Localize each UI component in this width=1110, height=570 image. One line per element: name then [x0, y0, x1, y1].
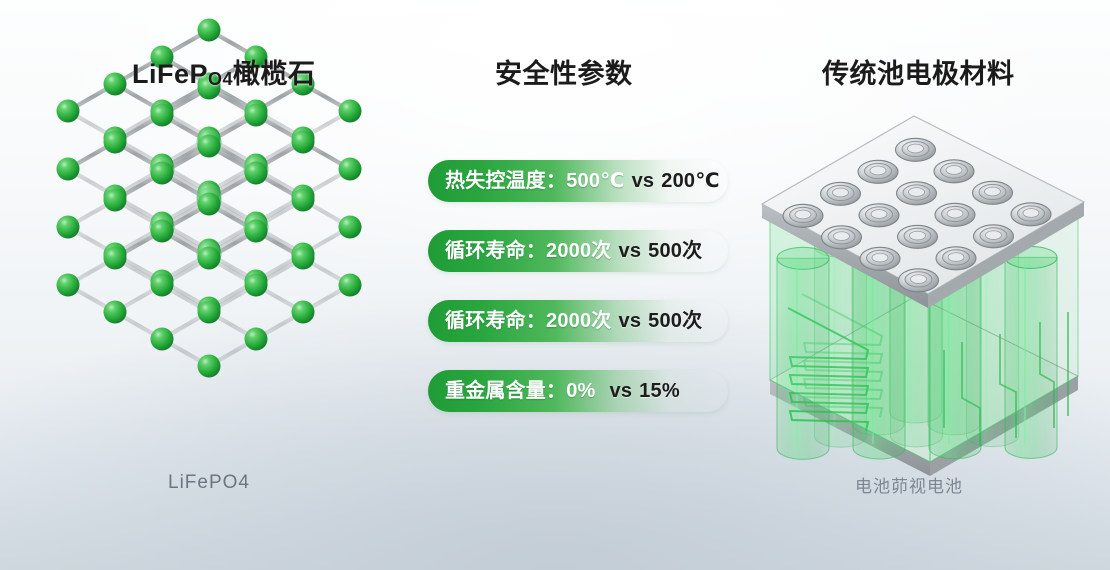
heading-left-main: LiFeP — [132, 59, 208, 89]
lattice-atom — [292, 247, 315, 270]
badge-row: 热失控温度：500℃vs200℃ — [428, 160, 728, 202]
lattice-atom — [198, 19, 221, 42]
lattice-atom — [198, 301, 221, 324]
lattice-atom — [104, 73, 127, 96]
badge-content: 循环寿命：2000次vs500次 — [428, 311, 702, 331]
battery-cell-cap — [860, 247, 900, 270]
crystal-lattice-illustration — [34, 104, 384, 460]
battery-cell-cap — [896, 138, 936, 161]
badge-row: 重金属含量：0%vs15% — [428, 370, 728, 412]
lattice-atom — [104, 189, 127, 212]
badge-value-bad: 500次 — [648, 310, 702, 332]
badge-value-bad: 200℃ — [661, 170, 719, 192]
lattice-atom — [198, 193, 221, 216]
lattice-atom — [104, 247, 127, 270]
heading-traditional-electrode: 传统池电极材料 — [822, 52, 1015, 91]
lattice-atom — [245, 274, 268, 297]
lattice-atom — [339, 100, 362, 123]
badge-content: 热失控温度：500℃vs200℃ — [428, 171, 720, 191]
badge-row: 循环寿命：2000次vs500次 — [428, 230, 728, 272]
caption-lifepo4: LiFePO4 — [168, 472, 250, 494]
badge-content: 重金属含量：0%vs15% — [428, 381, 680, 401]
lattice-atom — [104, 131, 127, 154]
lattice-atom — [151, 274, 174, 297]
battery-cell-cap — [973, 181, 1013, 204]
lattice-atom — [339, 274, 362, 297]
lattice-atom — [57, 158, 80, 181]
heading-safety-parameters: 安全性参数 — [495, 52, 633, 91]
badge-label: 重金属含量： — [445, 380, 566, 402]
lattice-atom — [198, 355, 221, 378]
badge-value-good: 500℃ — [566, 170, 624, 192]
lattice-atom — [57, 216, 80, 239]
heading-left-sub: O4 — [208, 69, 233, 89]
badge-vs: vs — [610, 380, 633, 402]
lattice-atom — [151, 162, 174, 185]
battery-cell-cap — [1011, 203, 1051, 226]
caption-battery: 电池茆视电池 — [855, 472, 963, 497]
slide-canvas: LiFePO4橄榄石 安全性参数 传统池电极材料 热失控温度：500℃vs200… — [0, 0, 1110, 570]
lattice-atom — [339, 216, 362, 239]
lattice-atom — [57, 274, 80, 297]
badge-vs: vs — [619, 310, 642, 332]
lattice-svg — [34, 104, 384, 460]
lattice-atom — [292, 301, 315, 324]
badge-vs: vs — [632, 170, 655, 192]
lattice-atom — [245, 104, 268, 127]
battery-cell-cap — [783, 204, 823, 227]
battery-cell-cap — [899, 269, 939, 292]
battery-cell-cap — [858, 160, 898, 183]
battery-cell-cap — [934, 160, 974, 183]
battery-cell-cap — [936, 247, 976, 270]
lattice-atom — [198, 247, 221, 270]
lattice-atom — [151, 220, 174, 243]
battery-cell-cap — [898, 225, 938, 248]
battery-cell-cap — [859, 204, 899, 227]
battery-cell-cap — [822, 226, 862, 249]
battery-cell-cap — [821, 182, 861, 205]
badge-content: 循环寿命：2000次vs500次 — [428, 241, 702, 261]
battery-cell-cap — [897, 182, 937, 205]
battery-cell-cap — [974, 225, 1014, 248]
lattice-atom — [245, 162, 268, 185]
lattice-atom — [198, 135, 221, 158]
badge-value-bad: 500次 — [648, 240, 702, 262]
heading-lifepo4: LiFePO4橄榄石 — [132, 52, 316, 91]
badge-vs: vs — [619, 240, 642, 262]
lattice-atom — [57, 100, 80, 123]
badge-value-bad: 15% — [639, 380, 680, 402]
lattice-atom — [245, 220, 268, 243]
battery-svg — [748, 98, 1096, 464]
battery-pack-illustration — [748, 98, 1096, 464]
badge-value-good: 2000次 — [546, 240, 612, 262]
lattice-atom — [292, 189, 315, 212]
lattice-atom — [292, 131, 315, 154]
lattice-atom — [245, 328, 268, 351]
lattice-atom — [151, 104, 174, 127]
badge-value-good: 0% — [566, 380, 595, 402]
lattice-atom — [339, 158, 362, 181]
badge-label: 循环寿命： — [445, 240, 546, 262]
safety-parameter-list: 热失控温度：500℃vs200℃ 循环寿命：2000次vs500次 循环寿命：2… — [428, 160, 728, 412]
heading-left-tail: 橄榄石 — [233, 59, 316, 89]
badge-label: 热失控温度： — [445, 170, 566, 192]
battery-cell-cap — [935, 203, 975, 226]
badge-row: 循环寿命：2000次vs500次 — [428, 300, 728, 342]
lattice-atom — [104, 301, 127, 324]
lattice-atom — [151, 328, 174, 351]
badge-label: 循环寿命： — [445, 310, 546, 332]
badge-value-good: 2000次 — [546, 310, 612, 332]
